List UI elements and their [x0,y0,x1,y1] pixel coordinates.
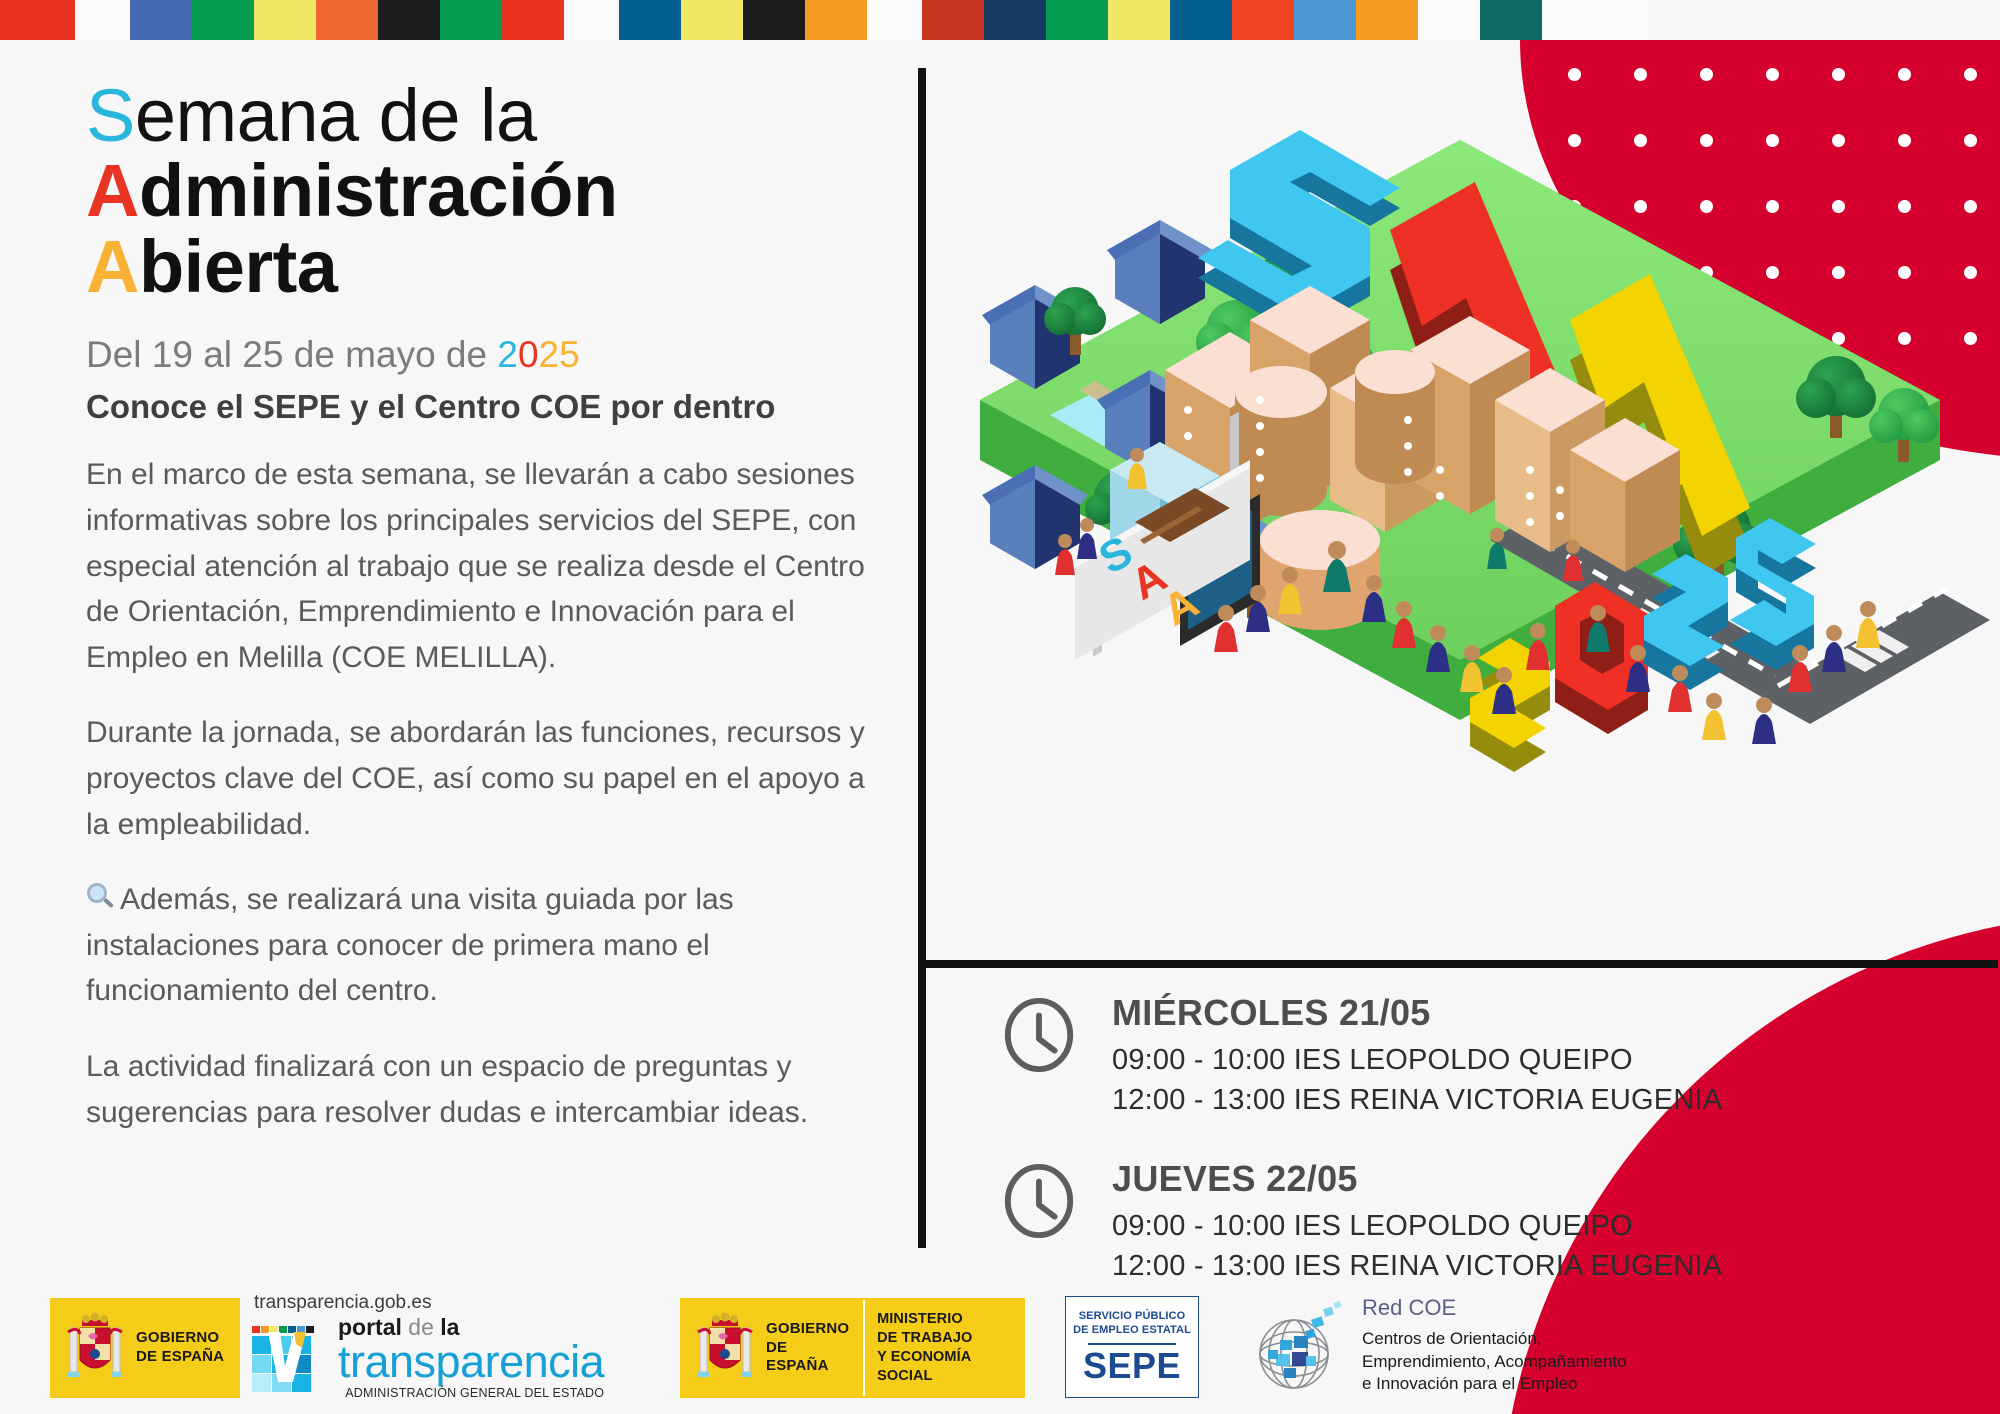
logo-ministerio-trabajo: GOBIERNO DE ESPAÑA MINISTERIO DE TRABAJO… [680,1298,1025,1398]
logo-portal-transparencia: transparencia.gob.es [252,1292,632,1404]
red-coe-line-1: Centros de Orientación, [1362,1328,1627,1350]
color-swatch-12 [743,0,805,40]
red-coe-line-2: Emprendimiento, Acompañamiento [1362,1351,1627,1373]
color-swatch-3 [192,0,254,40]
magnifier-icon [86,883,116,913]
color-swatch-0 [0,0,75,40]
spain-coat-of-arms-icon [694,1310,756,1386]
red-coe-title: Red COE [1362,1296,1627,1320]
schedule-day-label: JUEVES 22/05 [1112,1158,1722,1200]
color-swatch-22 [1356,0,1418,40]
color-swatch-23 [1418,0,1480,40]
poster-root: Semana de la Administración Abierta Del … [0,0,2000,1414]
color-swatch-19 [1170,0,1232,40]
logo-sepe: SERVICIO PÚBLICO DE EMPLEO ESTATAL SEPE [1065,1296,1199,1398]
gobierno-line-2: DE ESPAÑA [136,1348,224,1367]
sepe-subtitle-line-1: SERVICIO PÚBLICO [1073,1310,1191,1324]
transparencia-mark-icon [252,1324,330,1400]
logo-red-coe: Red COE Centros de Orientación, Emprendi… [1250,1292,1710,1400]
red-coe-line-3: e Innovación para el Empleo [1362,1373,1627,1395]
transparencia-subtitle: ADMINISTRACIÓN GENERAL DEL ESTADO [338,1386,604,1400]
color-swatch-17 [1046,0,1108,40]
color-swatch-2 [130,0,192,40]
schedule-list: MIÉRCOLES 21/05 09:00 - 10:00 IES LEOPOL… [1000,990,1980,1322]
paragraph-2: Durante la jornada, se abordarán las fun… [86,710,886,847]
year-digit-3: 2 [539,334,560,375]
clock-icon [1000,996,1078,1074]
sepe-subtitle: SERVICIO PÚBLICO DE EMPLEO ESTATAL [1073,1310,1191,1338]
color-swatch-16 [984,0,1046,40]
year-digit-1: 2 [497,334,518,375]
title-line-3-rest: bierta [139,225,338,308]
schedule-item: JUEVES 22/05 09:00 - 10:00 IES LEOPOLDO … [1000,1156,1980,1286]
ministerio-line-3: Y ECONOMÍA SOCIAL [877,1348,1025,1386]
title-line-2-rest: dministración [139,149,618,232]
color-swatch-18 [1108,0,1170,40]
top-color-strip [0,0,2000,40]
color-swatch-4 [254,0,316,40]
title-line-1-rest: emana de la [135,74,537,157]
ministerio-gob-line-2: DE ESPAÑA [766,1339,851,1377]
color-swatch-11 [681,0,743,40]
year-digit-4: 5 [559,334,580,375]
sepe-subtitle-line-2: DE EMPLEO ESTATAL [1073,1324,1191,1338]
red-coe-subtitle: Centros de Orientación, Emprendimiento, … [1362,1328,1627,1395]
transparencia-url: transparencia.gob.es [254,1292,632,1314]
schedule-session: 12:00 - 13:00 IES REINA VICTORIA EUGENIA [1112,1080,1722,1120]
color-swatch-9 [564,0,619,40]
date-prefix: Del 19 al 25 de mayo de [86,334,497,375]
globe-icon [1250,1296,1346,1396]
color-swatch-8 [502,0,564,40]
color-swatch-13 [805,0,867,40]
footer-logos: GOBIERNO DE ESPAÑA transparencia.gob.es [0,1284,2000,1414]
sepe-wordmark: SEPE [1083,1348,1181,1384]
color-swatch-20 [1232,0,1294,40]
color-swatch-1 [75,0,130,40]
ministerio-gob-line-1: GOBIERNO [766,1320,851,1339]
title-line-3: Abierta [86,229,886,304]
gobierno-text: GOBIERNO DE ESPAÑA [136,1329,224,1367]
horizontal-divider [918,960,1998,968]
page-title: Semana de la Administración Abierta [86,78,886,304]
paragraph-3-text: Además, se realizará una visita guiada p… [86,883,734,1007]
schedule-day-label: MIÉRCOLES 21/05 [1112,992,1722,1034]
color-swatch-7 [440,0,502,40]
ministerio-text: MINISTERIO DE TRABAJO Y ECONOMÍA SOCIAL [877,1310,1025,1385]
spain-coat-of-arms-icon [64,1310,126,1386]
color-swatch-6 [378,0,440,40]
transparencia-wordmark: transparencia [338,1339,604,1384]
color-swatch-21 [1294,0,1356,40]
schedule-item: MIÉRCOLES 21/05 09:00 - 10:00 IES LEOPOL… [1000,990,1980,1120]
schedule-session: 09:00 - 10:00 IES LEOPOLDO QUEIPO [1112,1040,1722,1080]
year-digit-2: 0 [518,334,539,375]
subtitle: Conoce el SEPE y el Centro COE por dentr… [86,388,886,426]
logo-gobierno-de-espana: GOBIERNO DE ESPAÑA [50,1298,240,1398]
title-initial-a1: A [86,149,139,232]
paragraph-4: La actividad finalizará con un espacio d… [86,1044,886,1135]
vertical-divider [918,68,926,1248]
title-initial-s: S [86,74,135,157]
color-swatch-5 [316,0,378,40]
left-content-column: Semana de la Administración Abierta Del … [86,78,886,1135]
paragraph-1: En el marco de esta semana, se llevarán … [86,452,886,680]
color-swatch-15 [922,0,984,40]
date-range: Del 19 al 25 de mayo de 2025 [86,334,886,376]
title-line-2: Administración [86,153,886,228]
ministerio-line-2: DE TRABAJO [877,1329,1025,1348]
schedule-session: 09:00 - 10:00 IES LEOPOLDO QUEIPO [1112,1206,1722,1246]
isometric-city-illustration: S A A [930,70,1990,950]
ministerio-line-1: MINISTERIO [877,1310,1025,1329]
color-swatch-10 [619,0,681,40]
color-swatch-14 [867,0,922,40]
color-swatch-25 [1542,0,1647,40]
paragraph-3: Además, se realizará una visita guiada p… [86,877,886,1014]
clock-icon [1000,1162,1078,1240]
body-text: En el marco de esta semana, se llevarán … [86,452,886,1135]
ministerio-gobierno-text: GOBIERNO DE ESPAÑA [766,1320,851,1376]
logo-divider [863,1300,865,1396]
title-line-1: Semana de la [86,78,886,153]
gobierno-line-1: GOBIERNO [136,1329,224,1348]
color-swatch-24 [1480,0,1542,40]
schedule-session: 12:00 - 13:00 IES REINA VICTORIA EUGENIA [1112,1246,1722,1286]
title-initial-a2: A [86,225,139,308]
